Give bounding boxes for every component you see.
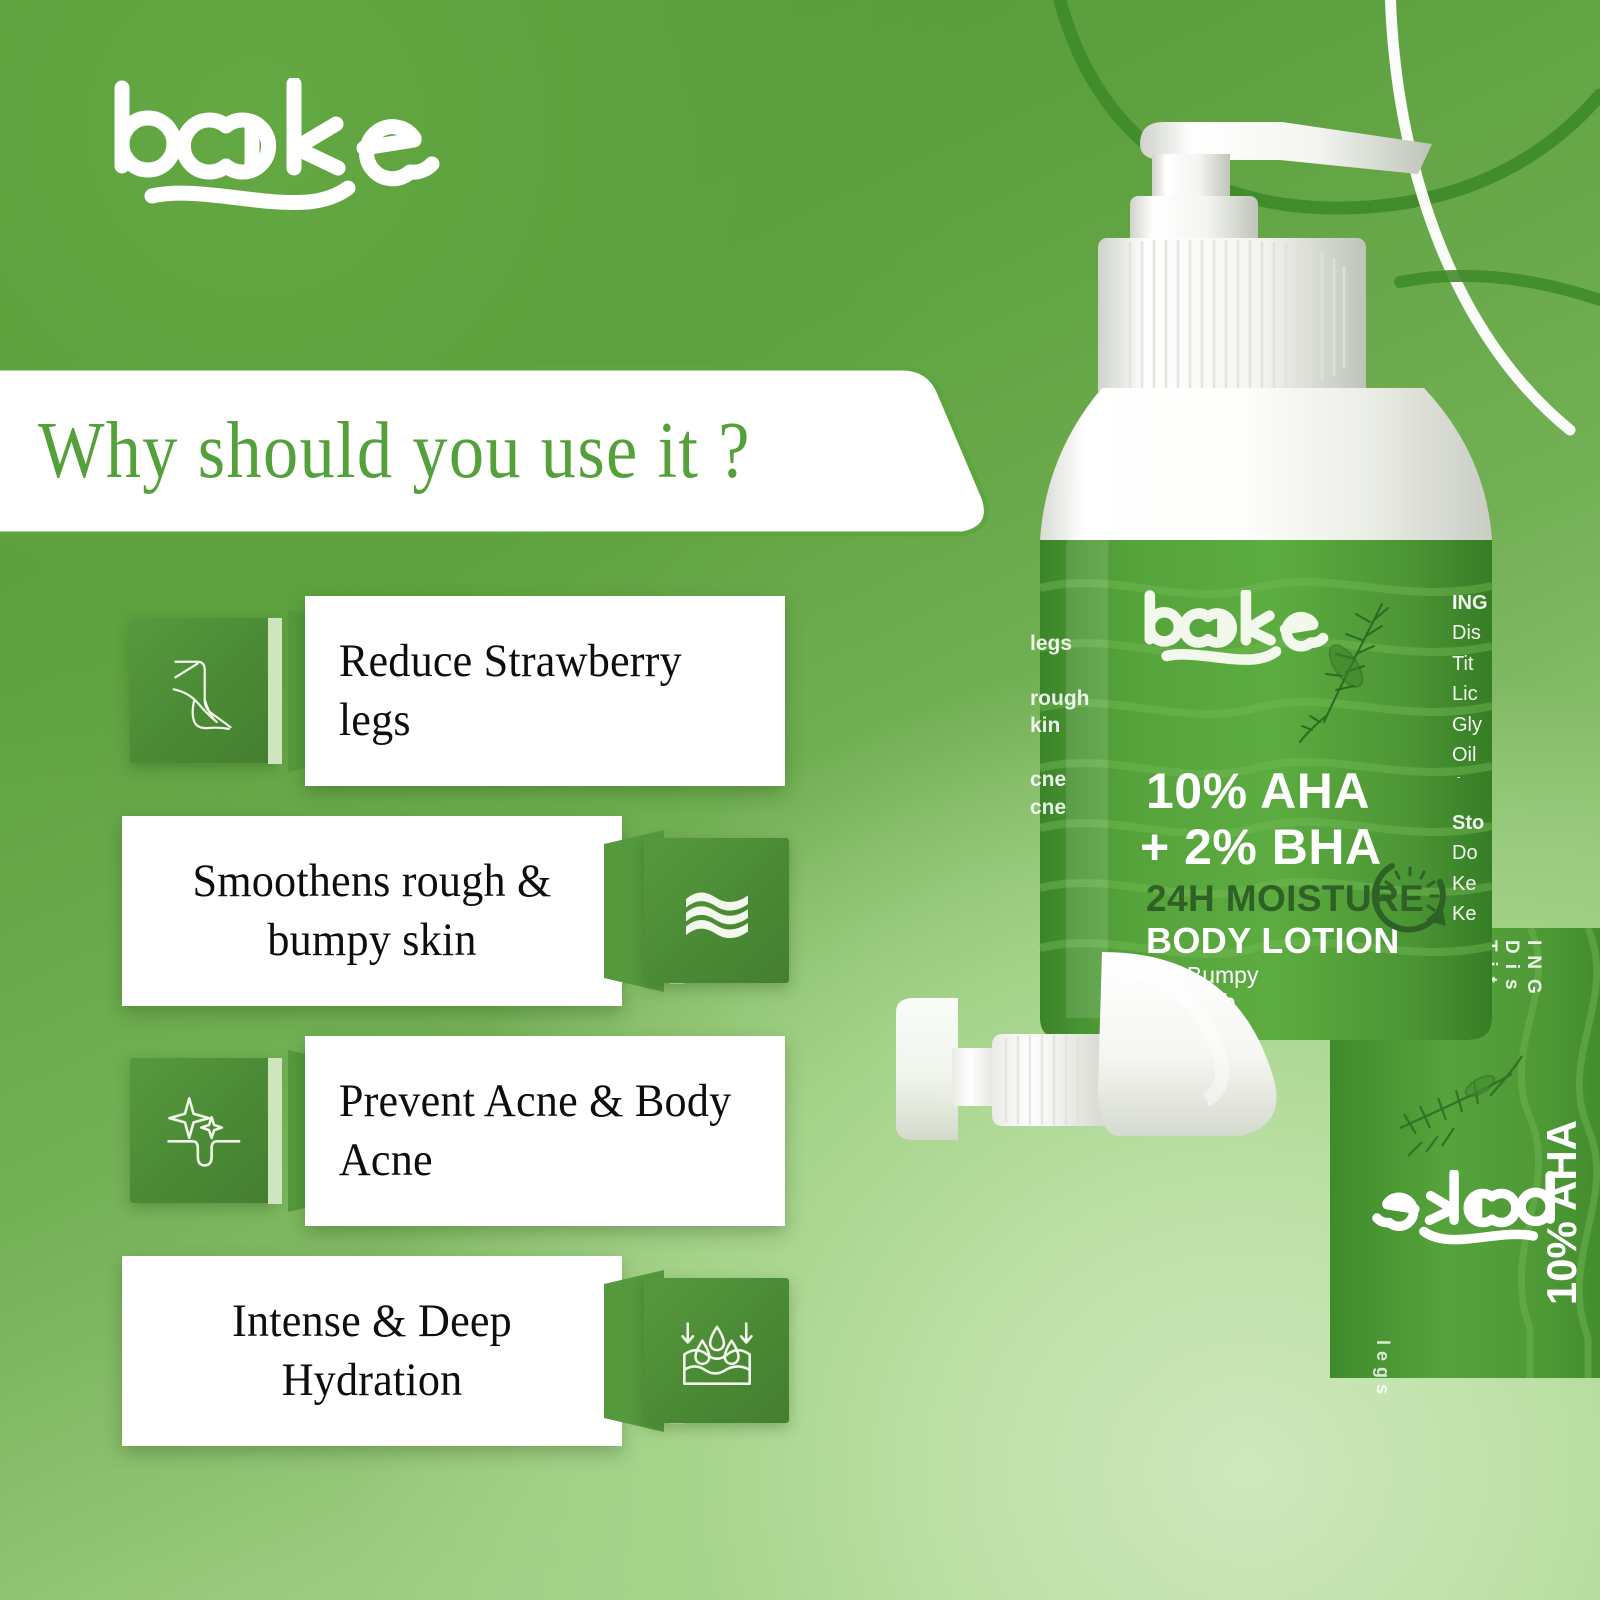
loose-pump-head — [888, 930, 1328, 1260]
feature-row-prevent-acne-body-acne[interactable]: Prevent Acne & Body Acne — [0, 1036, 860, 1256]
benefits-list: Reduce Strawberry legs Smoothens rough &… — [0, 596, 860, 1476]
feature-row-reduce-strawberry-legs[interactable]: Reduce Strawberry legs — [0, 596, 860, 816]
feature-row-intense-deep-hydration[interactable]: Intense & Deep Hydration — [0, 1256, 860, 1476]
feature-card: Reduce Strawberry legs — [305, 596, 785, 786]
feature-card: Intense & Deep Hydration — [122, 1256, 622, 1446]
poster-canvas: Why should you use it ? — [0, 0, 1600, 1600]
feature-label: Intense & Deep Hydration — [137, 1292, 607, 1410]
sparkle-pore-icon — [130, 1058, 275, 1203]
label-aha: 10% AHA — [1146, 762, 1370, 820]
24h-clock-icon — [1362, 848, 1458, 944]
wavy-lines-icon — [644, 838, 789, 983]
label-storage: Sto Do Ke Ke — [1452, 808, 1572, 928]
feature-label: Reduce Strawberry legs — [305, 632, 756, 750]
secondary-bottle-legs: legs — [1372, 1340, 1393, 1410]
feature-label: Prevent Acne & Body Acne — [305, 1072, 756, 1190]
feature-card: Prevent Acne & Body Acne — [305, 1036, 785, 1226]
rosemary-sprig-illustration — [1276, 592, 1412, 752]
primary-bottle — [1032, 88, 1500, 1048]
label-ingredients: ING Dis Tit Lic Gly Oil Ac Lac — [1452, 588, 1572, 778]
secondary-bottle — [1330, 928, 1600, 1398]
hydration-droplets-icon — [644, 1278, 789, 1423]
label-storage-lines: Do Ke Ke — [1452, 842, 1478, 925]
feature-row-smoothens-rough-bumpy-skin[interactable]: Smoothens rough & bumpy skin — [0, 816, 860, 1036]
label-storage-heading: Sto — [1452, 812, 1484, 834]
label-ingredients-heading: ING — [1452, 592, 1488, 614]
secondary-bottle-logo — [1368, 1170, 1558, 1270]
label-ingredients-lines: Dis Tit Lic Gly Oil Ac Lac — [1452, 622, 1484, 778]
legs-icon — [130, 618, 275, 763]
feature-label: Smoothens rough & bumpy skin — [137, 852, 607, 970]
label-spf: SPF — [1146, 1028, 1216, 1064]
brand-logo — [108, 78, 448, 218]
page-title: Why should you use it ? — [38, 362, 751, 540]
label-type: BODY LOTION — [1146, 920, 1400, 962]
label-moisture: 24H MOISTURE — [1146, 878, 1424, 920]
label-subtitle: For Bumpy & strawb — [1146, 962, 1258, 1016]
primary-bottle-logo — [1142, 590, 1332, 710]
feature-card: Smoothens rough & bumpy skin — [122, 816, 622, 1006]
heading-banner: Why should you use it ? — [0, 362, 994, 540]
secondary-bottle-ingredients: ING Dis Tit Lic Gly Oil Ac Lac — [1368, 940, 1544, 1032]
secondary-bottle-aha: 10% AHA — [1538, 1120, 1586, 1305]
label-edge-benefits: legs rough kin cne cne — [1030, 630, 1102, 990]
label-bha: + 2% BHA — [1140, 818, 1382, 876]
